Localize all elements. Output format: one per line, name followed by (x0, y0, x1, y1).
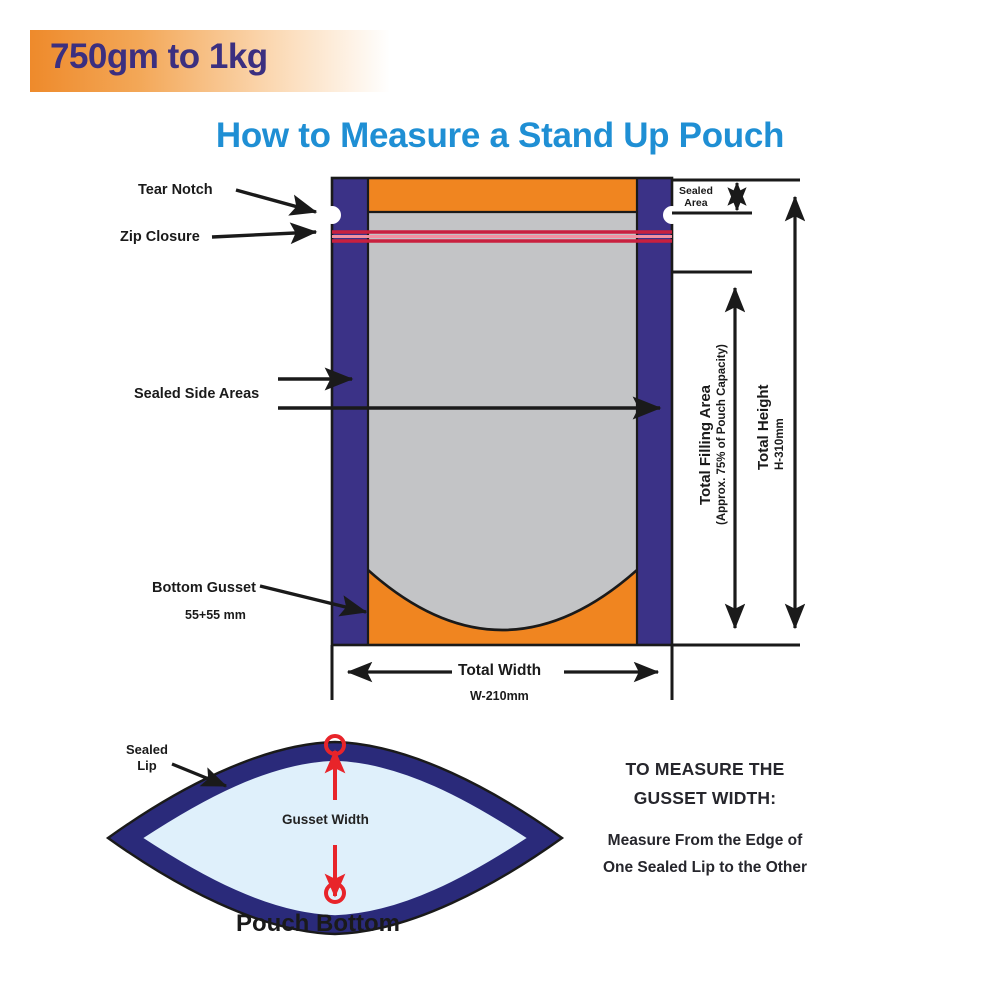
instruction-heading: TO MEASURE THE GUSSET WIDTH: (540, 755, 870, 813)
gusset-lens-diagram (108, 736, 562, 934)
pouch-measurement-infographic: 750gm to 1kg How to Measure a Stand Up P… (0, 0, 1000, 1000)
total-height-label: Total Height (755, 384, 772, 470)
bottom-gusset-dimension: 55+55 mm (185, 608, 246, 622)
zip-closure-leader (212, 232, 316, 237)
tear-notch-label: Tear Notch (138, 182, 213, 199)
sealed-area-line1: Sealed (679, 185, 713, 197)
total-width-label: Total Width (458, 662, 541, 680)
instruction-heading-line2: GUSSET WIDTH: (540, 784, 870, 813)
instruction-heading-line1: TO MEASURE THE (540, 755, 870, 784)
gusset-measure-instructions: TO MEASURE THE GUSSET WIDTH: Measure Fro… (540, 755, 870, 881)
sealed-side-areas-label: Sealed Side Areas (134, 386, 259, 403)
sealed-lip-line2: Lip (137, 758, 157, 773)
pouch-top-band (368, 179, 637, 212)
total-height-value: H-310mm (774, 418, 786, 470)
instruction-body: Measure From the Edge of One Sealed Lip … (540, 827, 870, 881)
pouch-bottom-label: Pouch Bottom (236, 910, 400, 938)
instruction-body-line1: Measure From the Edge of (540, 827, 870, 854)
total-width-value: W-210mm (470, 689, 529, 703)
pouch-illustration (324, 178, 681, 645)
total-filling-area-note: (Approx. 75% of Pouch Capacity) (716, 344, 728, 525)
sealed-lip-line1: Sealed (126, 742, 168, 757)
gusset-width-label: Gusset Width (282, 812, 369, 828)
pouch-front-panel (368, 178, 637, 645)
bottom-gusset-label: Bottom Gusset (152, 580, 256, 597)
tear-notch-left-icon (324, 207, 341, 224)
zip-closure-lines (332, 232, 672, 241)
tear-notch-leader (236, 190, 316, 212)
total-filling-area-label: Total Filling Area (697, 385, 714, 505)
sealed-area-line2: Area (684, 197, 707, 209)
zip-closure-label: Zip Closure (120, 229, 200, 246)
instruction-body-line2: One Sealed Lip to the Other (540, 854, 870, 881)
sealed-area-label: Sealed Area (676, 184, 716, 210)
sealed-lip-label: Sealed Lip (126, 742, 168, 773)
